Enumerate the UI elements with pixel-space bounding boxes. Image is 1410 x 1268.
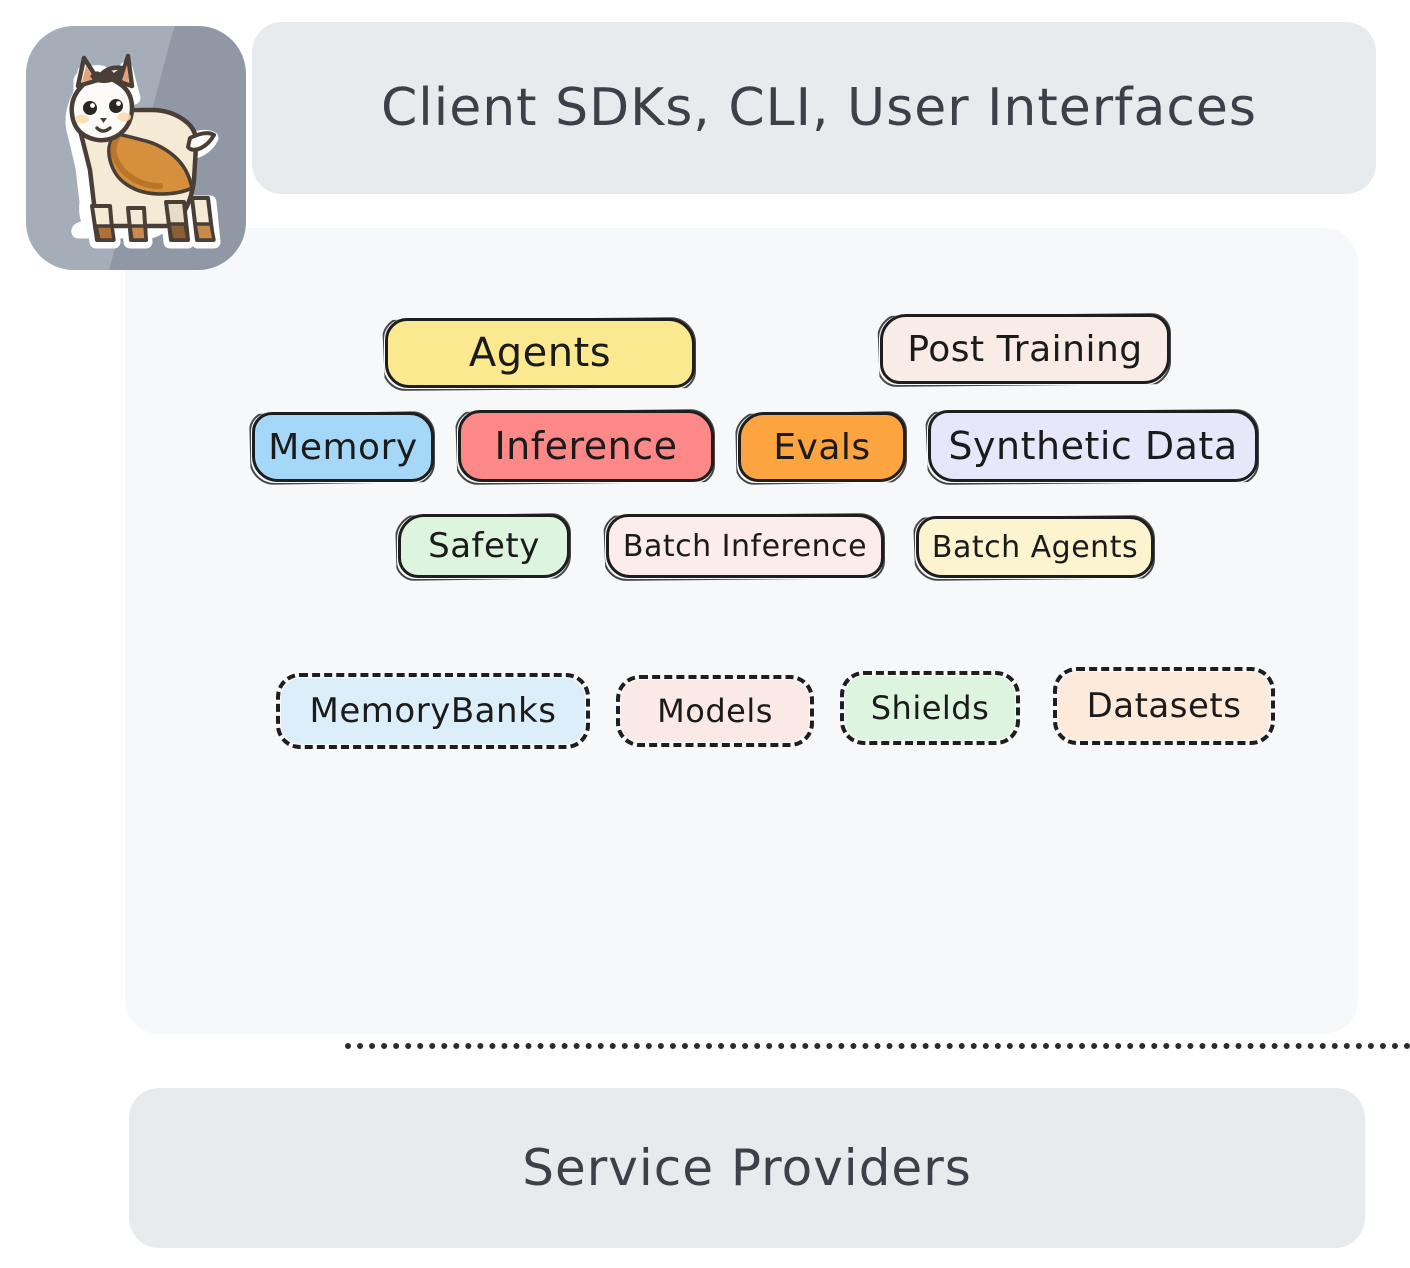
api-box-inference[interactable]: Inference — [458, 410, 714, 482]
api-box-label: Synthetic Data — [948, 424, 1237, 468]
resource-box-label: MemoryBanks — [310, 691, 557, 731]
api-box-safety[interactable]: Safety — [398, 514, 570, 578]
api-box-label: Evals — [773, 427, 870, 468]
api-box-label: Post Training — [907, 329, 1142, 370]
api-box-memory[interactable]: Memory — [252, 412, 434, 482]
api-box-label: Memory — [268, 427, 417, 468]
api-box-evals[interactable]: Evals — [738, 412, 906, 482]
api-box-label: Batch Inference — [623, 529, 867, 564]
api-box-label: Inference — [494, 424, 677, 468]
client-layer-title: Client SDKs, CLI, User Interfaces — [252, 78, 1376, 138]
resource-box-shields[interactable]: Shields — [845, 676, 1015, 740]
api-box-label: Agents — [469, 330, 611, 376]
llama-logo-tile — [26, 26, 246, 270]
api-box-label: Safety — [428, 526, 540, 566]
resource-box-datasets[interactable]: Datasets — [1058, 672, 1270, 740]
api-box-batch-agents[interactable]: Batch Agents — [916, 516, 1154, 578]
llama-icon — [40, 42, 232, 254]
api-box-label: Batch Agents — [932, 530, 1138, 565]
service-providers-title: Service Providers — [522, 1139, 972, 1197]
resource-box-memorybanks[interactable]: MemoryBanks — [281, 678, 585, 744]
layer-divider — [345, 1043, 1410, 1049]
resource-box-label: Models — [657, 692, 773, 730]
api-box-agents[interactable]: Agents — [385, 318, 695, 388]
api-box-synthetic-data[interactable]: Synthetic Data — [928, 410, 1258, 482]
service-providers-bar: Service Providers — [129, 1088, 1365, 1248]
llama-stack-panel: AgentsPost TrainingMemoryInferenceEvalsS… — [125, 228, 1358, 1034]
api-box-post-training[interactable]: Post Training — [880, 314, 1170, 384]
client-layer-bar: Client SDKs, CLI, User Interfaces — [252, 22, 1376, 194]
api-box-batch-inference[interactable]: Batch Inference — [606, 514, 884, 578]
resource-box-label: Shields — [871, 689, 990, 727]
resource-box-label: Datasets — [1087, 686, 1242, 726]
resource-box-models[interactable]: Models — [621, 680, 809, 742]
